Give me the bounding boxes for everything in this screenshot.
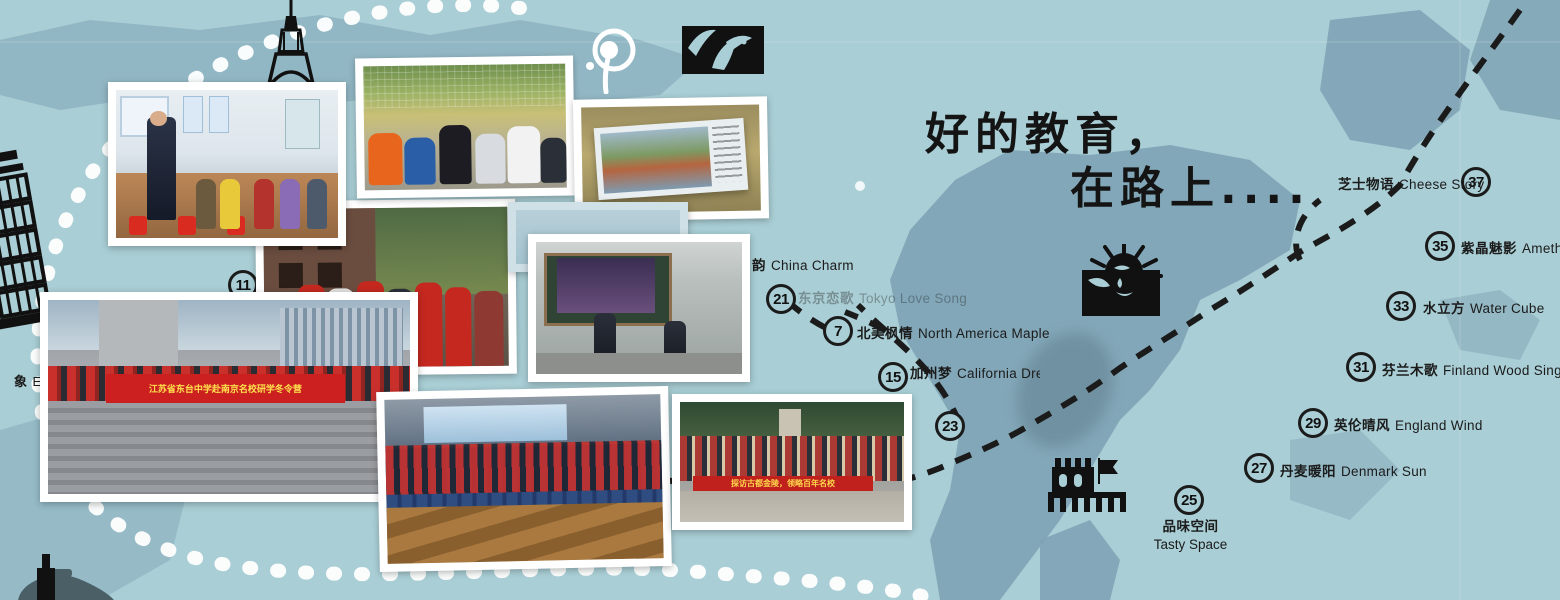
photo-group-steps[interactable]: 江苏省东台中学赴南京名校研学冬令营 [40, 292, 418, 502]
route-stop-15[interactable]: 15 [878, 362, 908, 392]
route-stop-number: 27 [1251, 460, 1267, 477]
route-stop-label-cn: 水立方 [1423, 301, 1465, 316]
route-stop-number: 11 [236, 277, 251, 294]
route-stop-33[interactable]: 33 [1386, 291, 1416, 321]
photo-image [363, 64, 567, 191]
tower-silhouette-icon [34, 552, 58, 600]
photo-image [116, 90, 338, 238]
route-stop-21-label: 东京恋歌Tokyo Love Song [798, 287, 967, 307]
partial-label-china-charm: 韵China Charm [752, 254, 854, 274]
route-stop-23[interactable]: 23 [935, 411, 965, 441]
route-stop-number: 33 [1393, 298, 1409, 315]
route-stop-27[interactable]: 27 [1244, 453, 1274, 483]
opera-house-icon [682, 20, 764, 74]
route-stop-27-label: 丹麦暖阳Denmark Sun [1280, 460, 1427, 480]
bridge-silhouette-icon [10, 555, 130, 600]
poster-canvas: 好的教育， 在路上.... [0, 0, 1560, 600]
route-stop-29[interactable]: 29 [1298, 408, 1328, 438]
route-stop-31-label: 芬兰木歌Finland Wood Singing [1382, 359, 1560, 379]
photo-banner-text: 江苏省东台中学赴南京名校研学冬令营 [106, 374, 345, 403]
route-stop-label-en: England Wind [1395, 418, 1483, 433]
route-stop-label-en: Tokyo Love Song [859, 291, 967, 306]
photo-image [536, 242, 742, 374]
route-stop-label-en: Amethyst Ch [1522, 241, 1560, 256]
route-stop-35-label: 紫晶魅影Amethyst Ch [1461, 237, 1560, 257]
route-stop-label-en: North America Maple [918, 326, 1050, 341]
route-stop-label-en: Tasty Space [1138, 536, 1243, 554]
route-stop-number: 35 [1432, 238, 1448, 255]
eiffel-tower-icon [258, 0, 324, 92]
route-stop-label-cn: 东京恋歌 [798, 291, 854, 306]
photo-image: 探访古都金陵，领略百年名校 [680, 402, 904, 522]
route-stop-35[interactable]: 35 [1425, 231, 1455, 261]
photo-auditorium[interactable] [376, 386, 672, 572]
photo-image: 江苏省东台中学赴南京名校研学冬令营 [48, 300, 410, 494]
photo-lecture[interactable] [528, 234, 750, 382]
photo-classroom[interactable] [108, 82, 346, 246]
photo-outdoor-activity[interactable] [355, 55, 575, 198]
photo-banner-text: 探访古都金陵，领略百年名校 [693, 476, 872, 490]
route-stop-label-cn: 芝士物语 [1338, 177, 1394, 192]
route-stop-label-cn: 芬兰木歌 [1382, 363, 1438, 378]
photo-image [384, 394, 663, 564]
route-stop-number: 29 [1305, 415, 1321, 432]
route-stop-number: 31 [1353, 359, 1369, 376]
photo-group-plaza[interactable]: 探访古都金陵，领略百年名校 [672, 394, 912, 530]
route-stop-label-cn: 紫晶魅影 [1461, 241, 1517, 256]
route-stop-number: 21 [773, 291, 789, 308]
route-stop-number: 23 [942, 418, 958, 435]
partial-label-cn: 韵 [752, 258, 766, 273]
route-stop-33-label: 水立方Water Cube [1423, 297, 1545, 317]
route-stop-29-label: 英伦晴风England Wind [1334, 414, 1483, 434]
route-stop-number: 7 [834, 323, 842, 340]
page-title-line-2: 在路上.... [1070, 152, 1311, 216]
route-stop-number: 25 [1181, 492, 1197, 509]
route-stop-label-cn: 加州梦 [910, 366, 952, 381]
partial-label-cn: 象 [14, 374, 28, 389]
photo-image [581, 104, 761, 213]
route-stop-label-en: California Dream [957, 366, 1040, 381]
route-stop-label-cn: 品味空间 [1138, 518, 1243, 536]
route-stop-7[interactable]: 7 [823, 316, 853, 346]
route-stop-label-cn: 丹麦暖阳 [1280, 464, 1336, 479]
route-stop-25[interactable]: 25 [1174, 485, 1204, 515]
location-pin-icon [584, 22, 646, 94]
route-stop-label-cn: 北美枫情 [857, 326, 913, 341]
route-stop-15-label: 加州梦California Dream [910, 362, 1040, 382]
route-stop-37-label: 芝士物语Cheese Story [1338, 173, 1484, 193]
route-stop-label-en: Cheese Story [1399, 177, 1484, 192]
route-stop-7-label: 北美枫情North America Maple [857, 322, 1050, 342]
route-stop-25-label: 品味空间 Tasty Space [1138, 518, 1243, 554]
route-stop-label-en: Denmark Sun [1341, 464, 1427, 479]
route-stop-21[interactable]: 21 [766, 284, 796, 314]
route-stop-label-cn: 英伦晴风 [1334, 418, 1390, 433]
partial-label-en: China Charm [771, 258, 854, 273]
statue-of-liberty-icon [1078, 244, 1170, 324]
route-stop-label-en: Water Cube [1470, 301, 1545, 316]
route-stop-number: 15 [885, 369, 901, 386]
castle-icon [1046, 450, 1128, 512]
route-stop-label-en: Finland Wood Singing [1443, 363, 1560, 378]
route-stop-31[interactable]: 31 [1346, 352, 1376, 382]
